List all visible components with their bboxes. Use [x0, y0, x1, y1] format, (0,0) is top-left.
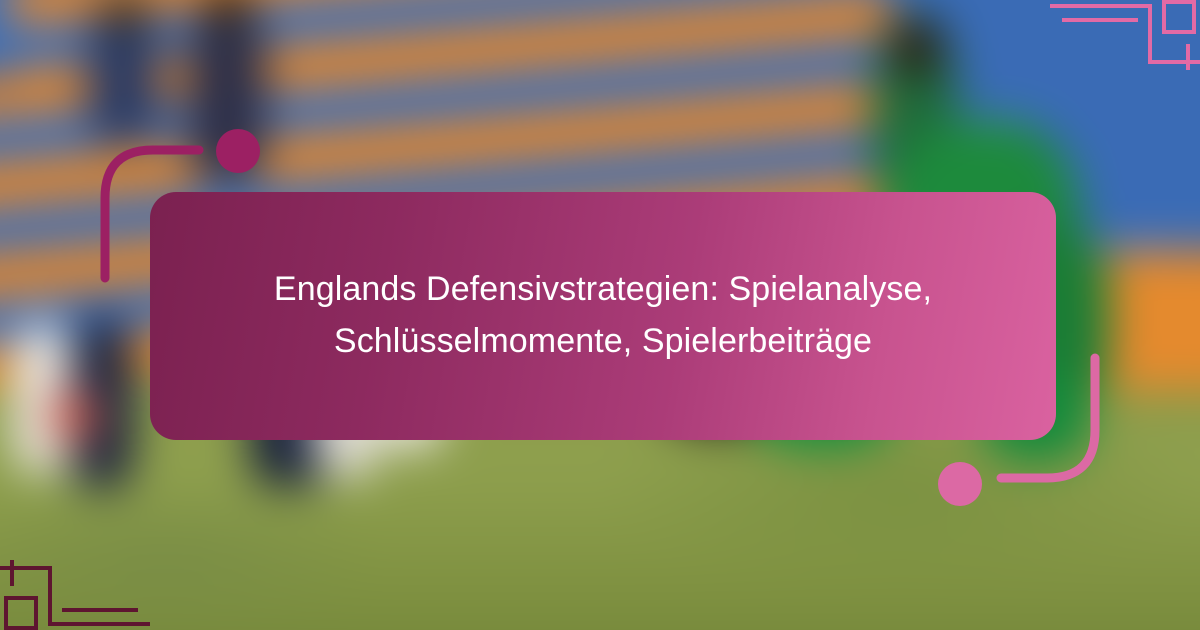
page-title-line-1: Englands Defensivstrategien: Spielanalys…: [274, 270, 932, 308]
accent-dot-bottom-right: [938, 462, 982, 506]
title-card: Englands Defensivstrategien: Spielanalys…: [150, 192, 1056, 440]
accent-dot-top-left: [216, 129, 260, 173]
page-title: Englands Defensivstrategien: Spielanalys…: [196, 264, 1010, 367]
stadium-stands-left: [0, 0, 10, 80]
corner-ornament-top-right: [1040, 0, 1200, 70]
player-head: [888, 18, 944, 78]
page-title-line-2: Schlüsselmomente, Spielerbeiträge: [334, 322, 872, 360]
share-card-canvas: Englands Defensivstrategien: Spielanalys…: [0, 0, 1200, 630]
football: [46, 390, 100, 442]
corner-ornament-bottom-left: [0, 560, 160, 630]
